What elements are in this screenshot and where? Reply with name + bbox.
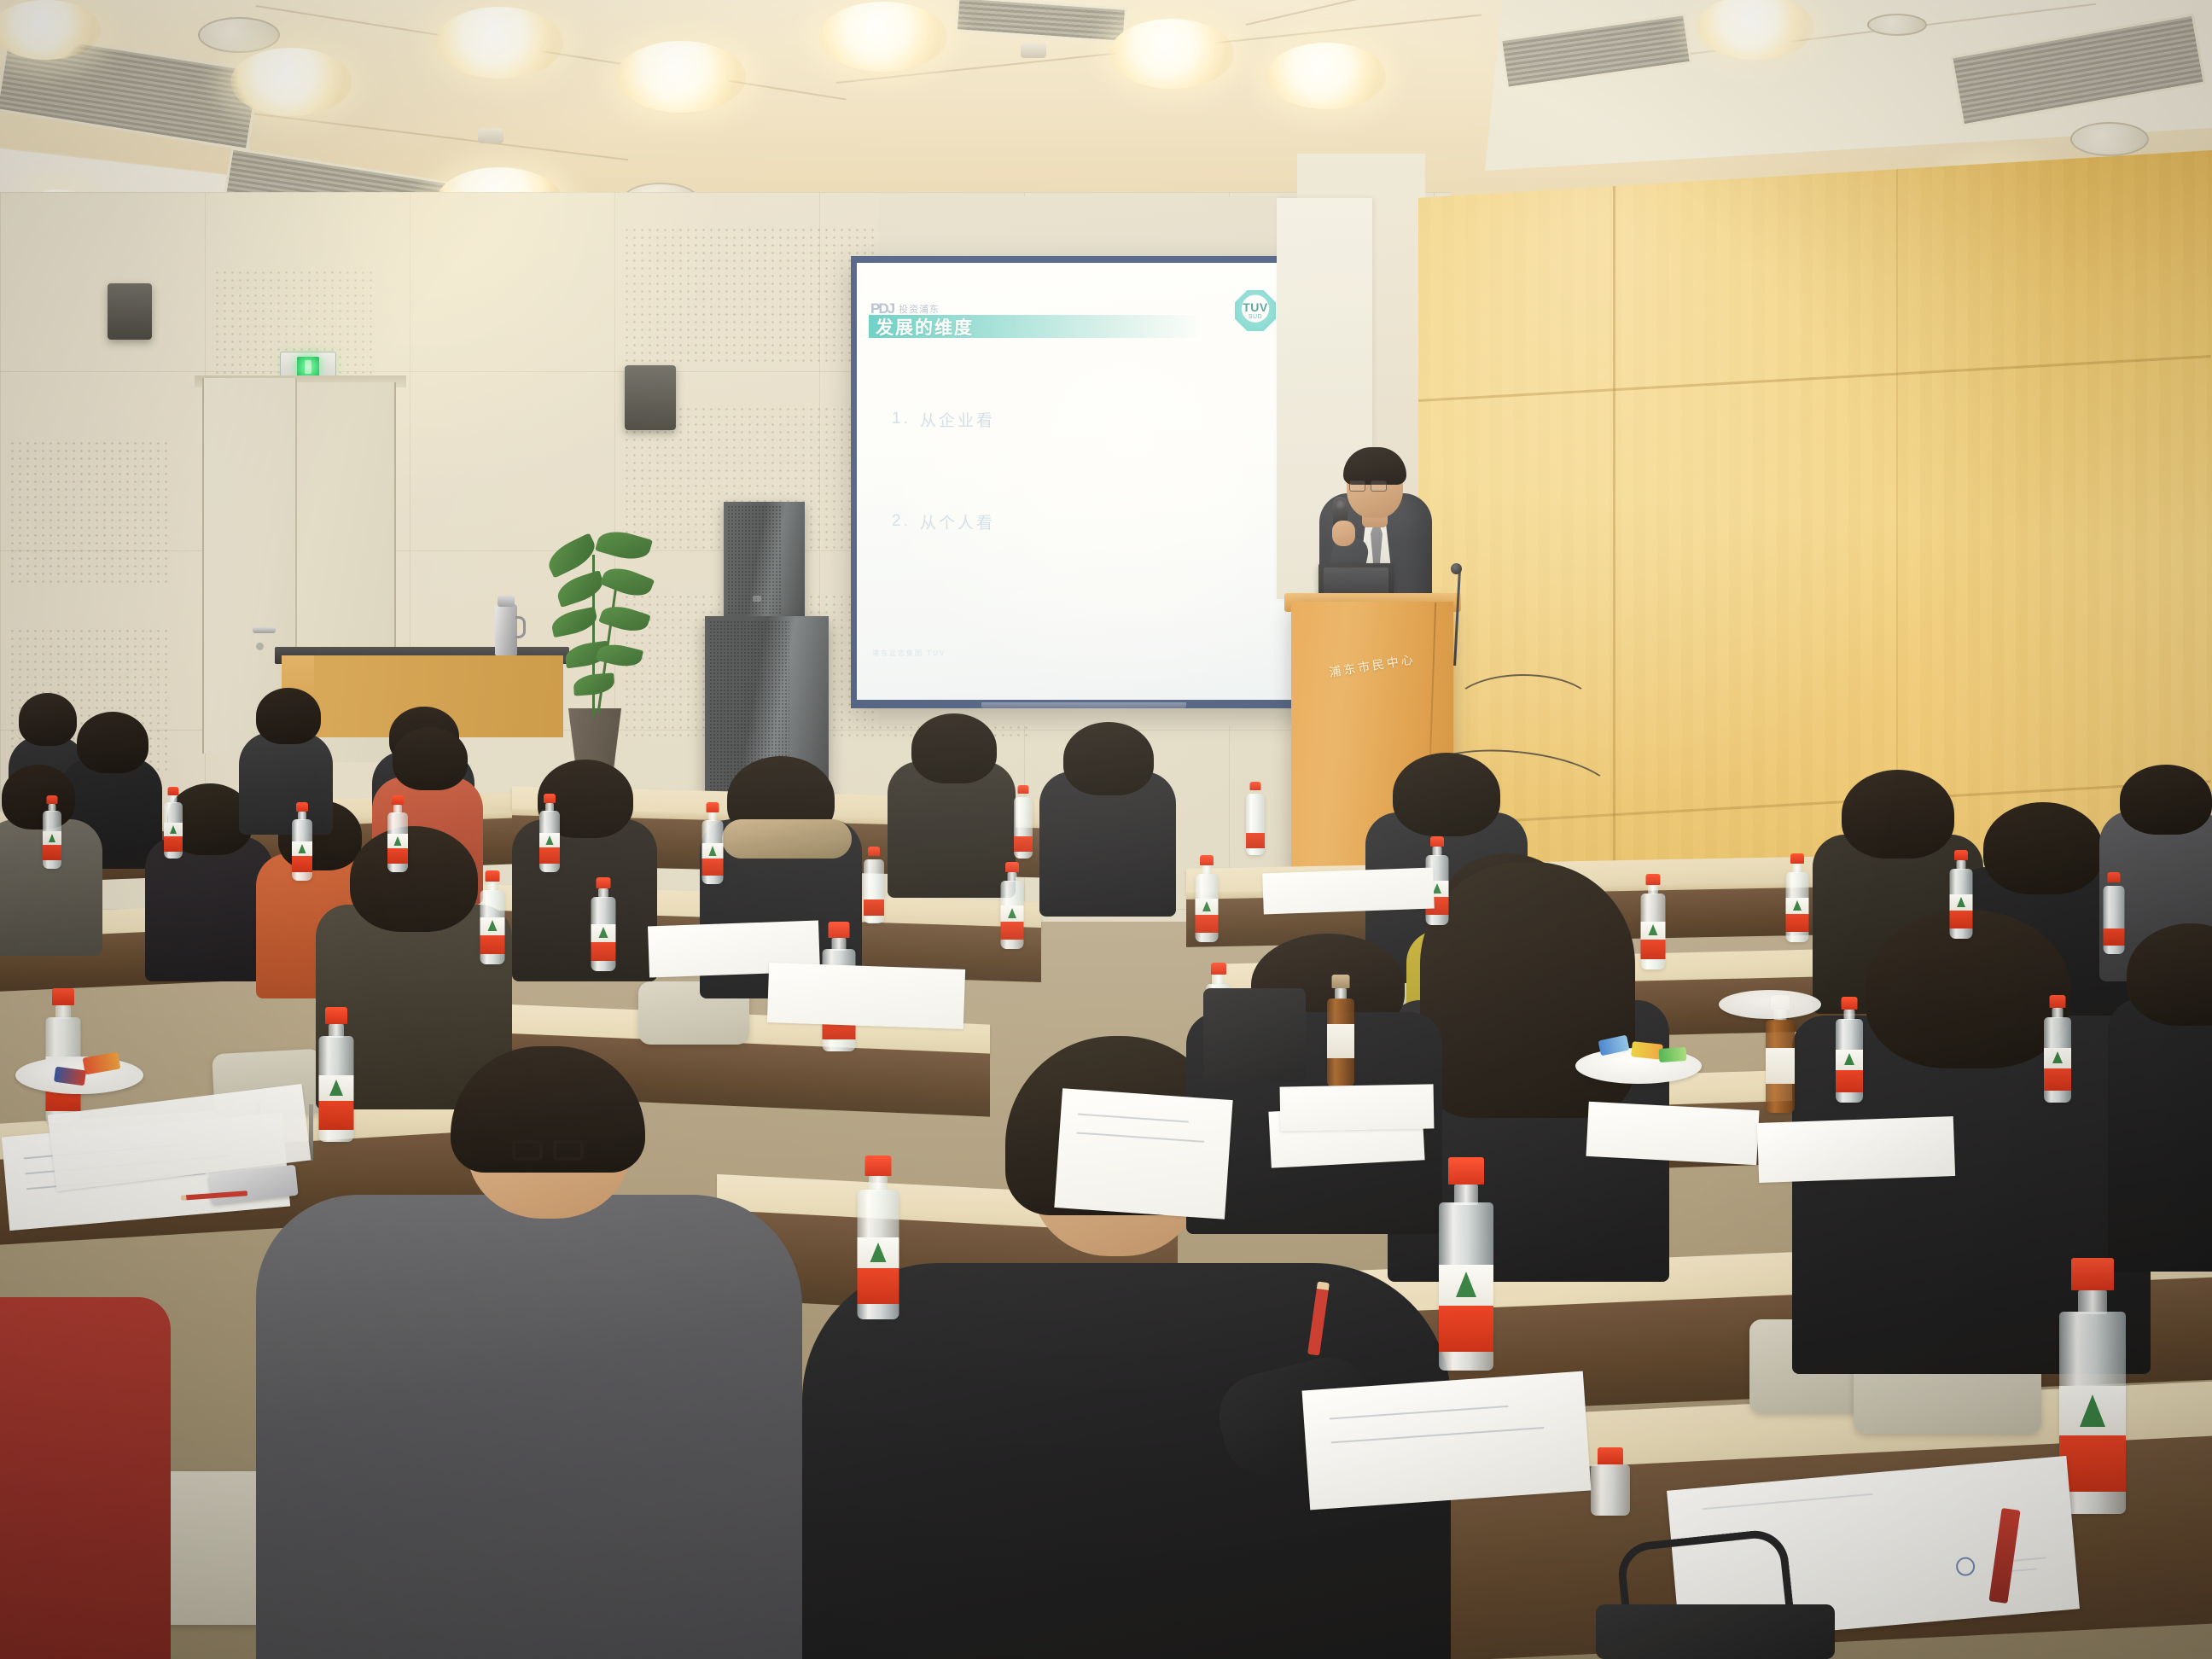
handout-paper[interactable] (767, 963, 965, 1029)
audience-hair (1063, 722, 1154, 795)
presenter-glasses-icon (1349, 480, 1387, 491)
handout-paper[interactable] (1280, 1084, 1435, 1131)
water-bottle[interactable] (998, 862, 1026, 949)
audience-hair (911, 713, 997, 783)
slide-bullet-1-number: 1. (892, 410, 911, 428)
notepad-logo-icon (1955, 1557, 1976, 1577)
foreground-glasses-icon (512, 1140, 584, 1162)
fur-hood-trim (722, 819, 852, 859)
presenter-hand (1332, 521, 1355, 546)
slide-title: 发展的维度 (876, 315, 974, 338)
tea-bottle[interactable] (1324, 975, 1357, 1087)
smoke-detector-icon (1021, 43, 1046, 58)
foreground-person-grey-suit (256, 1195, 802, 1659)
water-bottle[interactable] (162, 787, 184, 859)
handout-paper[interactable] (1262, 868, 1435, 915)
water-bottle[interactable] (41, 795, 63, 869)
ceiling-speaker-icon (198, 17, 280, 53)
audience-hair (19, 693, 77, 746)
slide-bullet-2-number: 2. (892, 512, 911, 531)
mic-stand-head-icon (1451, 563, 1462, 574)
exit-running-man-icon (297, 357, 319, 377)
screen-bottom-bar (981, 702, 1186, 708)
water-bottle[interactable] (1784, 853, 1811, 942)
thermos-handle (515, 616, 526, 638)
audience-hair (256, 688, 321, 744)
water-bottle[interactable] (316, 1007, 357, 1142)
audience-hair (2120, 765, 2212, 835)
audience-hair (1842, 770, 1954, 859)
thermos-cap (498, 596, 515, 607)
audience-hair (1983, 802, 2103, 894)
ceiling-speaker-icon (2070, 122, 2149, 156)
ceiling-downlight-glow (435, 7, 563, 79)
audience-hair (393, 727, 468, 790)
slide-bullet-2-text: 从个人看 (920, 510, 995, 533)
handbag (1203, 988, 1306, 1082)
water-bottle[interactable] (386, 795, 410, 872)
ceiling-downlight-glow (1266, 43, 1386, 109)
door-handle[interactable] (253, 627, 276, 633)
water-bottle[interactable] (1434, 1157, 1499, 1371)
water-bottle[interactable] (700, 802, 725, 884)
handout-paper[interactable] (1054, 1088, 1232, 1220)
audience-hair (2, 765, 75, 829)
water-bottle[interactable] (1244, 782, 1266, 855)
handout-paper[interactable] (1757, 1116, 1955, 1183)
audience-hair (350, 826, 478, 932)
water-bottle[interactable] (1012, 785, 1034, 859)
pa-speaker-upper (724, 502, 805, 617)
water-bottle[interactable] (1833, 997, 1866, 1103)
audience-person (2108, 998, 2212, 1272)
snack (1658, 1047, 1686, 1062)
snack-plate (1719, 990, 1821, 1019)
water-bottle[interactable] (1639, 874, 1668, 969)
wall-speaker-icon (625, 365, 676, 430)
tuv-logo-text: TUV (1243, 301, 1268, 313)
foreground-person-red (0, 1297, 171, 1659)
tuv-logo-subtext: SUD (1249, 314, 1262, 320)
water-bottle[interactable] (1587, 1447, 1633, 1516)
water-bottle[interactable] (2101, 872, 2127, 954)
ceiling-downlight-glow (819, 2, 947, 72)
water-bottle[interactable] (1947, 850, 1975, 939)
handbag (1596, 1604, 1835, 1659)
audience-hair (1393, 753, 1500, 836)
water-bottle[interactable] (853, 1155, 903, 1319)
water-bottle[interactable] (538, 794, 562, 872)
water-bottle[interactable] (290, 802, 314, 881)
handout-paper[interactable] (1586, 1102, 1759, 1165)
ceiling-downlight-glow (616, 41, 746, 113)
water-bottle[interactable] (589, 877, 618, 971)
water-bottle[interactable] (43, 988, 84, 1123)
handout-paper[interactable] (1302, 1371, 1592, 1511)
slide-bullet-1-text: 从企业看 (920, 408, 995, 431)
ceiling-downlight-glow (1109, 19, 1234, 89)
slide-footer: 浦东立志集团 TUV (872, 649, 946, 658)
water-bottle[interactable] (862, 847, 886, 923)
audience-person (512, 819, 657, 981)
seminar-room-photo: PDJ 投资浦东 发展的维度 TUV SUD 1. 从企业看 2. 从个人看 浦… (0, 0, 2212, 1659)
water-bottle[interactable] (478, 870, 507, 964)
water-bottle[interactable] (2041, 995, 2074, 1103)
audience-person (239, 732, 333, 835)
water-bottle[interactable] (1193, 855, 1220, 942)
acoustic-perforation (9, 439, 171, 585)
wall-speaker-icon (108, 283, 152, 340)
door-lock-icon (256, 643, 264, 650)
ceiling-downlight-glow (230, 48, 352, 116)
ceiling-speaker-icon (1867, 14, 1927, 36)
thermos-flask (495, 604, 517, 655)
audience-hair (77, 712, 148, 773)
smoke-detector-icon (478, 128, 504, 143)
